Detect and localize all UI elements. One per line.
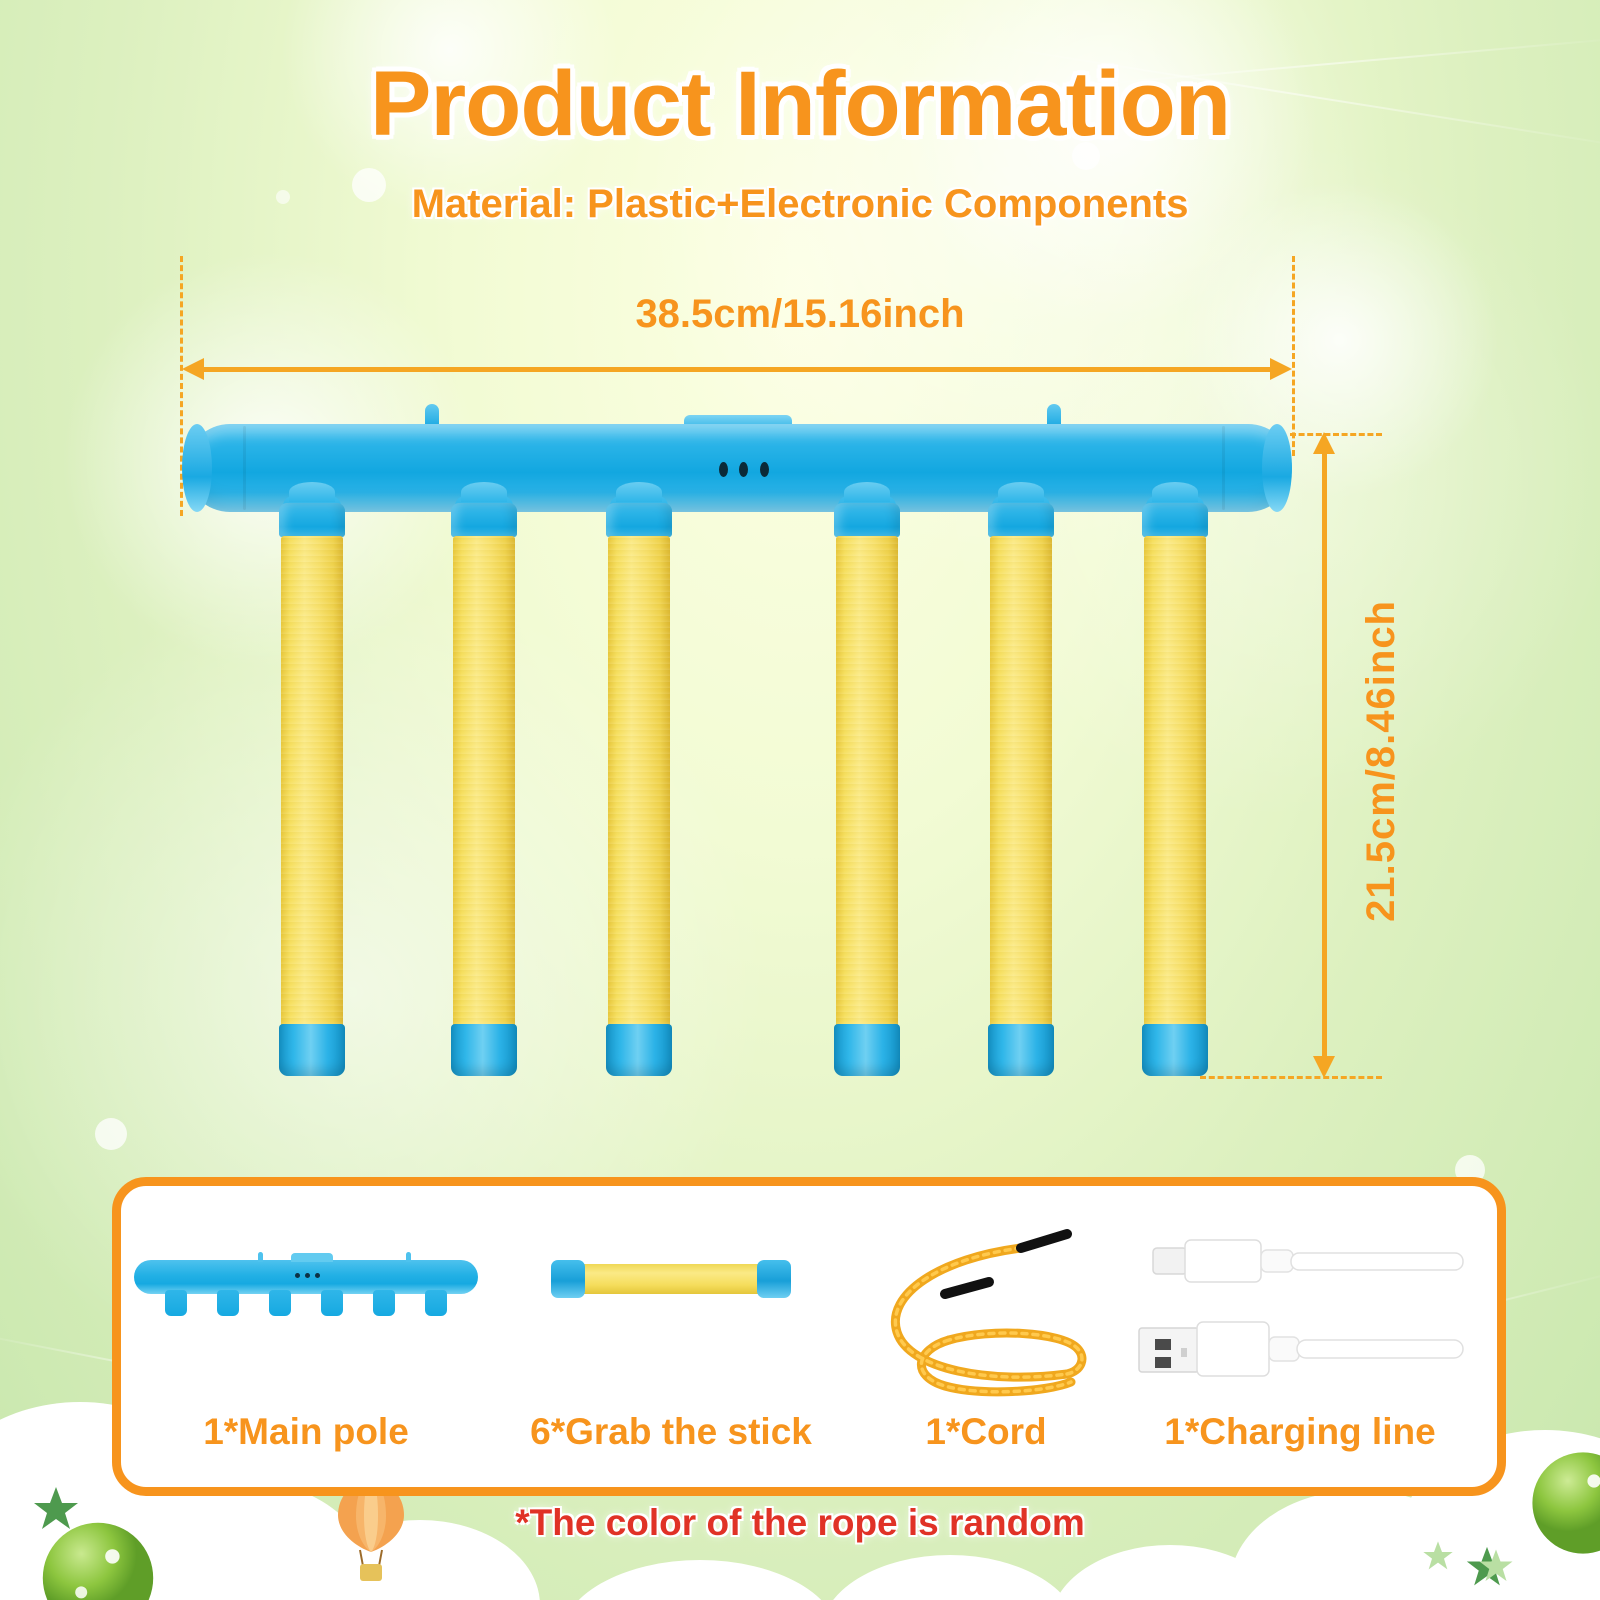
part-item-cord: 1*Cord	[851, 1186, 1121, 1487]
parts-list-box: 1*Main pole 6*Grab the stick	[112, 1177, 1506, 1496]
stick-top-cap	[834, 503, 900, 537]
foam-stick	[453, 536, 515, 1030]
led-indicator	[760, 462, 769, 477]
stick-top-cap	[451, 503, 517, 537]
rope-color-note: *The color of the rope is random	[0, 1502, 1600, 1544]
star-decoration	[1465, 1545, 1509, 1589]
stick-bottom-cap	[451, 1024, 517, 1076]
dimension-guide-right	[1292, 256, 1295, 456]
led-indicator	[739, 462, 748, 477]
foam-stick	[281, 536, 343, 1030]
pole-button	[684, 415, 792, 431]
stick-bottom-cap	[279, 1024, 345, 1076]
cloud-decoration	[560, 1560, 840, 1600]
cord-icon	[871, 1224, 1101, 1404]
main-pole-seam	[1222, 426, 1225, 510]
dimension-guide-bottom	[1200, 1076, 1382, 1079]
main-pole-seam	[243, 426, 246, 510]
stick-top-cap	[279, 503, 345, 537]
part-item-grab-stick: 6*Grab the stick	[491, 1186, 851, 1487]
main-pole-left-cap	[182, 424, 212, 512]
stick-top-cap	[1142, 503, 1208, 537]
stick-bottom-cap	[988, 1024, 1054, 1076]
part-item-main-pole: 1*Main pole	[121, 1186, 491, 1487]
stick-connector-stub	[283, 496, 341, 538]
stick-top-cap	[606, 503, 672, 537]
star-decoration	[1422, 1540, 1454, 1572]
stick-connector-stub	[455, 496, 513, 538]
height-dimension-label: 21.5cm/8.46inch	[1359, 600, 1404, 922]
stick-connector-stub	[610, 496, 668, 538]
height-dimension-arrow	[1322, 452, 1327, 1058]
part-label: 6*Grab the stick	[491, 1411, 851, 1453]
star-decoration	[1478, 1548, 1514, 1584]
page-subtitle: Material: Plastic+Electronic Components	[0, 182, 1600, 227]
foam-stick	[1144, 536, 1206, 1030]
main-pole-body	[186, 424, 1292, 512]
bokeh-glow	[1180, 180, 1500, 500]
pole-tab-icon	[425, 404, 439, 426]
page-title: Product Information	[0, 52, 1600, 157]
stick-connector-stub	[1146, 496, 1204, 538]
bokeh-glow	[900, 0, 1320, 330]
width-dimension-label: 38.5cm/15.16inch	[0, 292, 1600, 337]
stick-connector-stub	[992, 496, 1050, 538]
main-pole-right-cap	[1262, 424, 1292, 512]
stick-bottom-cap	[1142, 1024, 1208, 1076]
charging-line-icon	[1135, 1236, 1465, 1396]
part-label: 1*Main pole	[121, 1411, 491, 1453]
stick-top-cap	[988, 503, 1054, 537]
cloud-decoration	[1050, 1545, 1290, 1600]
foam-stick	[990, 536, 1052, 1030]
bokeh-dot	[95, 1118, 127, 1150]
foam-stick	[836, 536, 898, 1030]
pole-tab-icon	[1047, 404, 1061, 426]
stick-bottom-cap	[606, 1024, 672, 1076]
part-label: 1*Charging line	[1121, 1411, 1479, 1453]
cloud-decoration	[820, 1555, 1080, 1600]
product-info-page: Product Information Material: Plastic+El…	[0, 0, 1600, 1600]
stick-bottom-cap	[834, 1024, 900, 1076]
part-label: 1*Cord	[851, 1411, 1121, 1453]
led-indicator	[719, 462, 728, 477]
foam-stick	[608, 536, 670, 1030]
dimension-guide-top	[1290, 433, 1382, 436]
width-dimension-arrow	[202, 367, 1272, 372]
stick-connector-stub	[838, 496, 896, 538]
part-item-charging-line: 1*Charging line	[1121, 1186, 1479, 1487]
